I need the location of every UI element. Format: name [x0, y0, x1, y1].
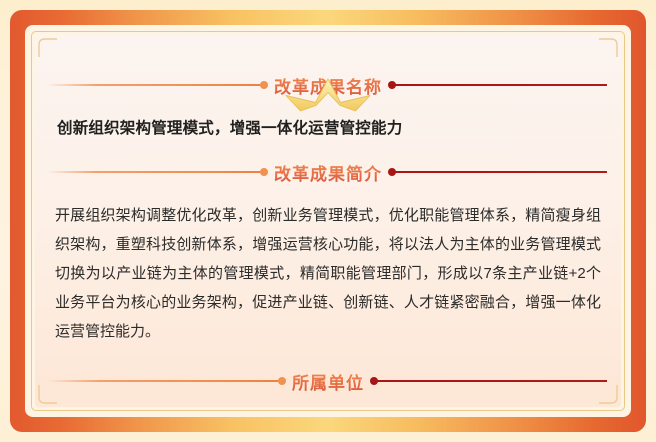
rule-dot-left-icon [278, 377, 286, 385]
content-panel: 改革成果名称 创新组织架构管理模式，增强一体化运营管控能力 改革成果简介 [35, 35, 621, 407]
result-name-text: 创新组织架构管理模式，增强一体化运营管控能力 [57, 116, 607, 138]
section-header-name: 改革成果名称 [49, 72, 607, 98]
content-area: 改革成果名称 创新组织架构管理模式，增强一体化运营管控能力 改革成果简介 [35, 35, 621, 407]
outer-gradient-frame: 改革成果名称 创新组织架构管理模式，增强一体化运营管控能力 改革成果简介 [10, 10, 646, 432]
section-title-summary: 改革成果简介 [272, 160, 384, 185]
rule-dot-right-icon [388, 81, 396, 89]
rule-dot-right-icon [370, 377, 378, 385]
rule-dot-right-icon [388, 168, 396, 176]
result-summary-text: 开展组织架构调整优化改革，创新业务管理模式，优化职能管理体系，精简瘦身组织架构，… [55, 201, 601, 346]
rule-dot-left-icon [260, 168, 268, 176]
section-rule-right [391, 84, 607, 87]
section-header-unit: 所属单位 [49, 368, 607, 394]
certificate-page: 改革成果名称 创新组织架构管理模式，增强一体化运营管控能力 改革成果简介 [0, 0, 656, 442]
section-header-summary: 改革成果简介 [49, 159, 607, 185]
section-rule-left [49, 84, 265, 87]
section-title-name: 改革成果名称 [272, 73, 384, 98]
section-title-unit: 所属单位 [290, 369, 366, 394]
section-rule-left [49, 380, 283, 383]
rule-dot-left-icon [260, 81, 268, 89]
section-rule-right [373, 380, 607, 383]
section-rule-left [49, 171, 265, 174]
section-rule-right [391, 171, 607, 174]
